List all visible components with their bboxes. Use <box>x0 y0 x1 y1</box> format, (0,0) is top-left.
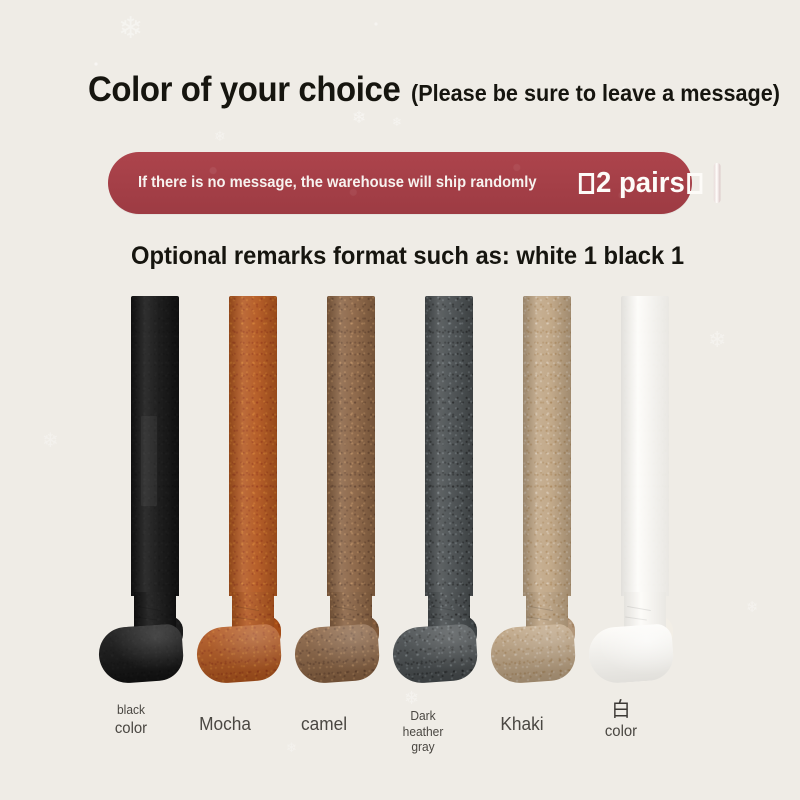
sock-leg <box>327 296 375 596</box>
sock-leg <box>425 296 473 596</box>
sock-label-mocha: Mocha <box>195 713 255 736</box>
sock-leg <box>621 296 669 596</box>
sock-label-black: black color <box>102 703 160 738</box>
sock-label-camel: camel <box>294 713 354 736</box>
sock-leg <box>229 296 277 596</box>
sock-label-dark-heather-gray: Dark heather gray <box>393 709 453 756</box>
sock-foot <box>97 623 185 685</box>
sock-label-white: 白 color <box>591 697 651 741</box>
product-color-options-page: ❄ ❄ ❄ ❄ ❄ ❄ ❄ ❄ ❄ ❄ Color of your choice… <box>0 0 800 800</box>
sock-foot <box>293 623 381 685</box>
sock-foot <box>195 623 283 685</box>
sock-foot <box>489 623 577 685</box>
sock-label-khaki: Khaki <box>492 713 552 736</box>
sock-leg <box>523 296 571 596</box>
sock-foot <box>587 623 675 685</box>
sock-foot <box>391 623 479 685</box>
sock-swatch-row <box>0 0 800 800</box>
